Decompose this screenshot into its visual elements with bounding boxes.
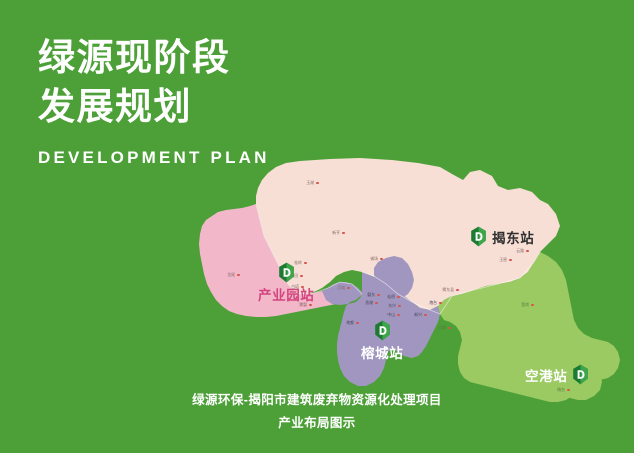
station-label: 揭东站 (492, 227, 534, 247)
leaf-logo-icon (470, 226, 487, 247)
station-label: 榕城站 (361, 342, 403, 362)
station-marker-rongcheng[interactable]: 榕城站 (361, 320, 403, 362)
leaf-logo-icon (374, 320, 391, 341)
development-plan-poster: 玉湖 新亨 锡场 玉窖 云路 埔田 桂岭 龙尾 白塔 霖磐 月城 磐东 渔湖 仙… (0, 0, 634, 453)
station-label: 空港站 (525, 365, 567, 385)
leaf-logo-icon (572, 364, 589, 385)
station-marker-kongang[interactable]: 空港站 (525, 364, 589, 385)
leaf-logo-icon (278, 262, 295, 283)
station-marker-jiedong[interactable]: 揭东站 (470, 226, 534, 247)
map-illustration (0, 0, 634, 453)
station-label: 产业园站 (258, 284, 314, 304)
station-marker-chanyeyuan[interactable]: 产业园站 (258, 262, 314, 304)
